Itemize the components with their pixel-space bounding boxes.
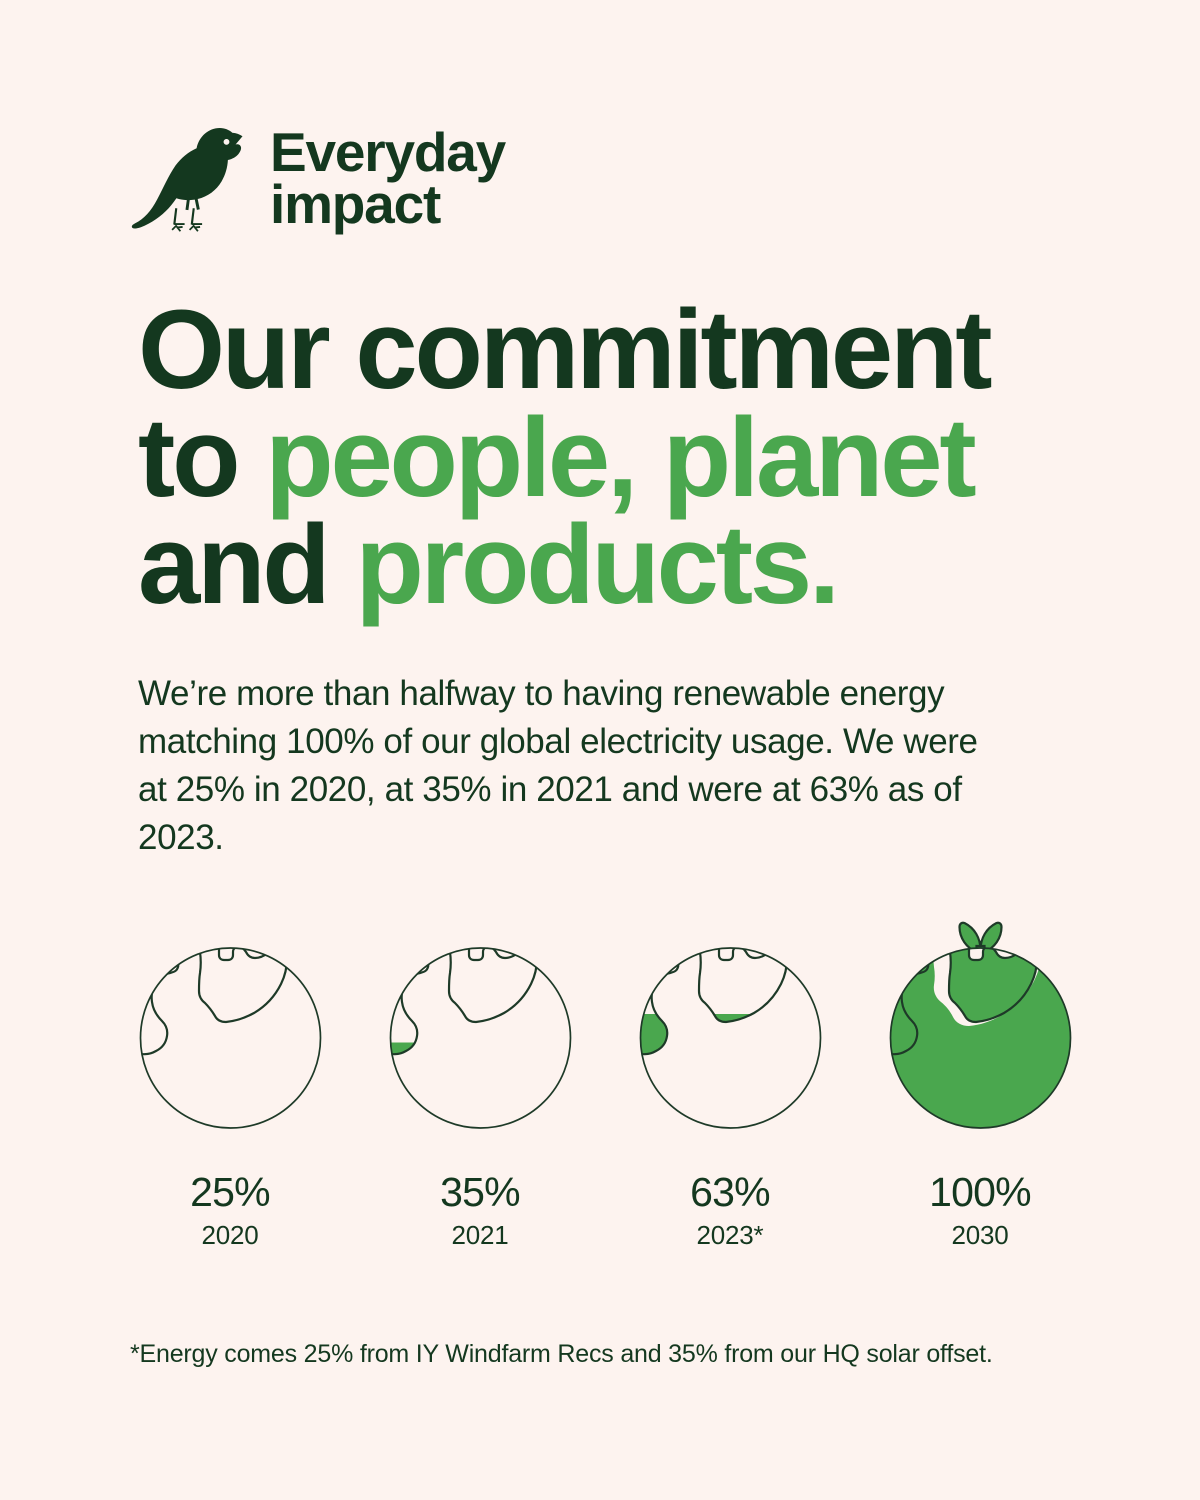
globe-icon — [138, 870, 323, 1130]
brand-name-line2: impact — [270, 178, 505, 230]
progress-item-2020: 25% 2020 — [130, 870, 330, 1248]
progress-item-2023: 63% 2023* — [630, 870, 830, 1248]
progress-globe-row: 25% 2020 — [130, 870, 1080, 1248]
headline-line3-lead: and — [138, 502, 355, 627]
intro-paragraph: We’re more than halfway to having renewa… — [138, 670, 978, 862]
footnote: *Energy comes 25% from IY Windfarm Recs … — [130, 1338, 1090, 1371]
headline-line2-accent: people, planet — [265, 395, 973, 520]
globe-sprout-icon — [888, 870, 1073, 1130]
page-title: Our commitmentto people, planetand produ… — [138, 296, 1068, 619]
brand-name-line1: Everyday — [270, 126, 505, 178]
infographic-page: Everyday impact Our commitmentto people,… — [0, 0, 1200, 1500]
progress-percent: 35% — [440, 1172, 520, 1213]
progress-year: 2021 — [451, 1222, 508, 1248]
headline-line3-accent: products. — [355, 502, 836, 627]
progress-year: 2020 — [201, 1222, 258, 1248]
headline-line1: Our commitment — [138, 287, 989, 412]
progress-percent: 63% — [690, 1172, 770, 1213]
progress-item-2021: 35% 2021 — [380, 870, 580, 1248]
progress-percent: 100% — [929, 1172, 1031, 1213]
globe-icon — [388, 870, 573, 1130]
progress-year: 2030 — [951, 1222, 1008, 1248]
brand-logo: Everyday impact — [130, 122, 505, 234]
progress-item-2030: 100% 2030 — [880, 870, 1080, 1248]
progress-year: 2023* — [697, 1222, 764, 1248]
bird-icon — [130, 122, 248, 234]
brand-wordmark: Everyday impact — [270, 126, 505, 231]
headline-line2-lead: to — [138, 395, 265, 520]
globe-icon — [638, 870, 823, 1130]
progress-percent: 25% — [190, 1172, 270, 1213]
